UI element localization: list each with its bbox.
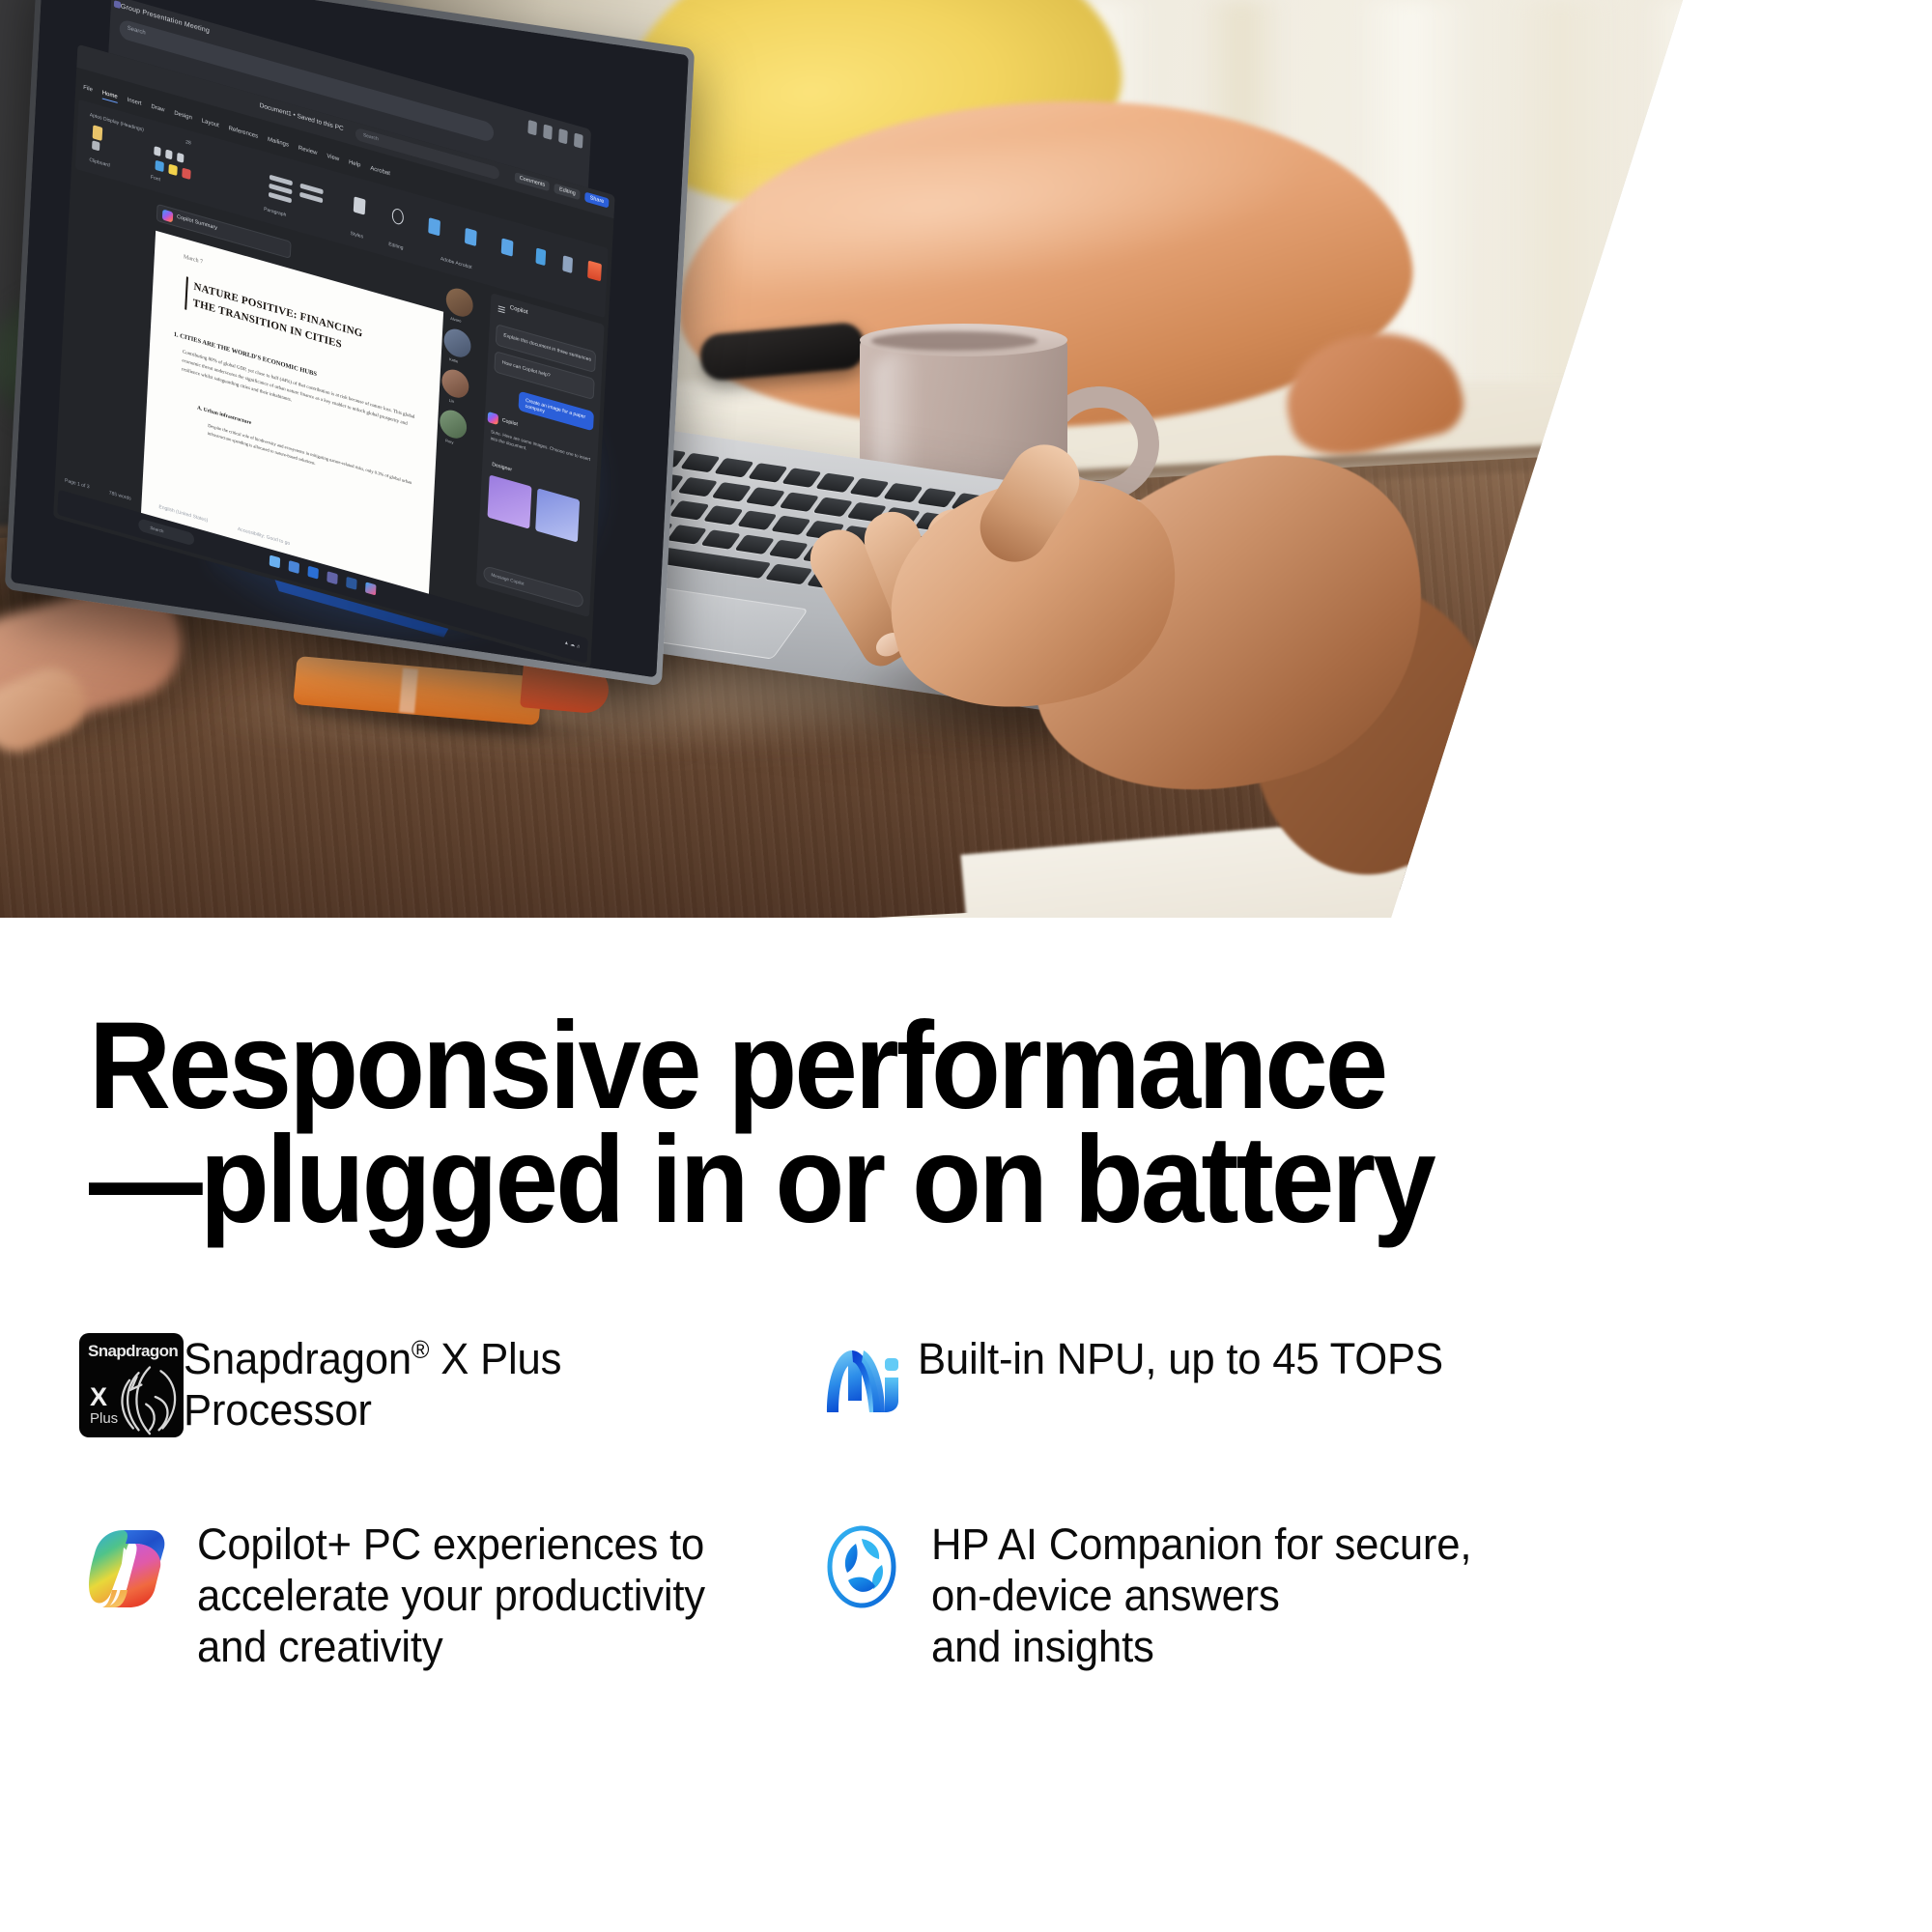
system-tray[interactable]: ▲ ☁ ♫ bbox=[564, 639, 581, 650]
registered-mark: ® bbox=[412, 1335, 429, 1364]
tab-view[interactable]: View bbox=[327, 154, 339, 166]
generated-image-2[interactable] bbox=[535, 488, 580, 542]
tab-design[interactable]: Design bbox=[174, 110, 192, 124]
snapdragon-dragon-mark bbox=[112, 1356, 184, 1437]
teams-icon-more[interactable] bbox=[574, 132, 583, 149]
document-paragraph-2: Despite the critical role of biodiversit… bbox=[208, 422, 414, 496]
create-pdf-icon[interactable] bbox=[428, 217, 440, 236]
tab-layout[interactable]: Layout bbox=[201, 118, 218, 131]
compare-files-icon[interactable] bbox=[465, 228, 477, 246]
hp-ai-companion-icon bbox=[813, 1519, 910, 1615]
add-ins-icon[interactable] bbox=[587, 261, 602, 282]
feedback-icons[interactable] bbox=[565, 545, 588, 561]
laptop-screen[interactable]: Group Presentation Meeting Search bbox=[11, 0, 688, 677]
page-title: Responsive performance —plugged in or on… bbox=[89, 1009, 1706, 1237]
font-size-box[interactable]: 28 bbox=[185, 139, 191, 147]
italic-icon[interactable] bbox=[165, 149, 172, 159]
tab-mailings[interactable]: Mailings bbox=[268, 137, 289, 152]
copilot-panel[interactable]: Copilot Explain this document in three s… bbox=[476, 293, 605, 617]
hpai-text-line3: and insights bbox=[931, 1622, 1154, 1671]
ribbon-group-paragraph: Paragraph bbox=[264, 207, 287, 219]
feature-npu: Built-in NPU, up to 45 TOPS bbox=[813, 1333, 1818, 1437]
teams-icon-mic[interactable] bbox=[543, 124, 553, 140]
sensitivity-icon[interactable] bbox=[562, 255, 573, 273]
snapdragon-x-plus-logo-wrap: Snapdragon X Plus bbox=[79, 1333, 184, 1437]
laptop-lid: Group Presentation Meeting Search bbox=[5, 0, 695, 686]
ribbon-group-acrobat: Adobe Acrobat bbox=[440, 256, 472, 270]
feature-list: Snapdragon X Plus bbox=[79, 1333, 1857, 1672]
feature-npu-text: Built-in NPU, up to 45 TOPS bbox=[918, 1333, 1443, 1384]
start-icon[interactable] bbox=[270, 554, 280, 568]
hp-ai-companion-icon-wrap bbox=[813, 1519, 931, 1615]
copilot-text-line3: and creativity bbox=[197, 1622, 442, 1671]
edge-icon[interactable] bbox=[307, 566, 318, 580]
copilot-panel-title: Copilot bbox=[510, 305, 528, 316]
find-icon[interactable] bbox=[391, 207, 404, 225]
tab-home[interactable]: Home bbox=[101, 90, 117, 102]
hero-photo: hp Group Presentation Meeting Search bbox=[0, 0, 1739, 918]
feature-copilot: Copilot+ PC experiences to accelerate yo… bbox=[79, 1519, 813, 1672]
tab-help[interactable]: Help bbox=[349, 159, 361, 171]
feature-hp-ai-companion-text: HP AI Companion for secure, on-device an… bbox=[931, 1519, 1471, 1672]
underline-icon[interactable] bbox=[177, 153, 184, 163]
bold-icon[interactable] bbox=[154, 146, 160, 156]
format-painter-icon[interactable] bbox=[92, 140, 99, 151]
snapdragon-x-plus-logo: Snapdragon X Plus bbox=[79, 1333, 184, 1437]
ai-ribbon-icon-wrap bbox=[813, 1333, 918, 1430]
tab-references[interactable]: References bbox=[228, 126, 258, 143]
ai-ribbon-icon bbox=[813, 1333, 910, 1430]
tab-acrobat[interactable]: Acrobat bbox=[370, 165, 390, 180]
headline-line-2: —plugged in or on battery bbox=[89, 1111, 1434, 1249]
copilot-taskbar-icon[interactable] bbox=[365, 582, 376, 595]
hand bbox=[792, 415, 1391, 918]
teams-search-placeholder: Search bbox=[128, 25, 146, 36]
text-color-icon[interactable] bbox=[155, 160, 163, 173]
snapdragon-text-line2: Processor bbox=[184, 1385, 372, 1435]
document-date: March 7 bbox=[184, 254, 203, 266]
combine-files-icon[interactable] bbox=[501, 238, 514, 256]
menu-icon[interactable] bbox=[498, 305, 505, 308]
status-page: Page 1 of 3 bbox=[65, 477, 90, 490]
hpai-text-line2: on-device answers bbox=[931, 1571, 1280, 1620]
dictate-icon[interactable] bbox=[535, 247, 546, 266]
highlight-icon[interactable] bbox=[168, 164, 177, 177]
paste-icon[interactable] bbox=[93, 125, 103, 141]
taskbar-search-placeholder: Search bbox=[150, 525, 163, 533]
feature-row: Copilot+ PC experiences to accelerate yo… bbox=[79, 1519, 1857, 1672]
tab-insert[interactable]: Insert bbox=[127, 98, 141, 110]
ribbon-group-clipboard: Clipboard bbox=[89, 157, 110, 169]
tab-file[interactable]: File bbox=[83, 85, 93, 97]
document-heading-2: A. Urban infrastructure bbox=[197, 405, 252, 426]
ad-canvas: hp Group Presentation Meeting Search bbox=[0, 0, 1932, 1932]
copilot-reply-author: Copilot bbox=[502, 417, 518, 428]
ribbon-group-styles: Styles bbox=[350, 231, 363, 241]
feature-snapdragon-text: Snapdragon® X Plus Processor bbox=[184, 1333, 561, 1435]
ribbon-group-font: Font bbox=[151, 175, 160, 184]
teams-toolbar-icons[interactable] bbox=[527, 120, 582, 149]
copilot-icon-small bbox=[162, 209, 173, 222]
snapdragon-text-post: X Plus bbox=[429, 1334, 561, 1383]
copilot-designer-label: Designer bbox=[492, 462, 512, 473]
snapdragon-text-pre: Snapdragon bbox=[184, 1334, 412, 1383]
ribbon-group-editing: Editing bbox=[388, 241, 404, 251]
copilot-icon bbox=[79, 1519, 178, 1617]
copilot-summary-label: Copilot Summary bbox=[177, 214, 217, 232]
tab-draw[interactable]: Draw bbox=[151, 104, 164, 117]
hpai-text-line1: HP AI Companion for secure, bbox=[931, 1520, 1471, 1569]
curtain bbox=[1507, 0, 1613, 638]
feature-hp-ai-companion: HP AI Companion for secure, on-device an… bbox=[813, 1519, 1818, 1672]
status-words: 785 words bbox=[109, 490, 131, 501]
copilot-text-line2: accelerate your productivity bbox=[197, 1571, 705, 1620]
tab-review[interactable]: Review bbox=[298, 146, 318, 160]
snapdragon-tier-text: X bbox=[90, 1382, 107, 1412]
word-taskbar-icon[interactable] bbox=[346, 577, 356, 590]
copilot-reply-text: Sure. Here are some images. Choose one t… bbox=[491, 428, 591, 469]
styles-icon[interactable] bbox=[354, 196, 366, 214]
feature-snapdragon: Snapdragon X Plus bbox=[79, 1333, 813, 1437]
meeting-participants: Alvaro Katie Lin Rory bbox=[443, 284, 482, 295]
copilot-icon bbox=[488, 412, 498, 425]
copilot-text-line1: Copilot+ PC experiences to bbox=[197, 1520, 704, 1569]
file-explorer-icon[interactable] bbox=[289, 560, 299, 574]
word-search-placeholder: Search bbox=[363, 132, 379, 142]
generated-image-1[interactable] bbox=[487, 474, 531, 528]
copilot-icon-wrap bbox=[79, 1519, 197, 1617]
teams-taskbar-icon[interactable] bbox=[327, 571, 337, 584]
feature-copilot-text: Copilot+ PC experiences to accelerate yo… bbox=[197, 1519, 705, 1672]
teams-icon-share[interactable] bbox=[558, 128, 568, 145]
feature-row: Snapdragon X Plus bbox=[79, 1333, 1857, 1437]
font-color-icon[interactable] bbox=[182, 168, 190, 181]
teams-icon-camera[interactable] bbox=[527, 120, 537, 136]
curtain bbox=[1642, 0, 1739, 638]
